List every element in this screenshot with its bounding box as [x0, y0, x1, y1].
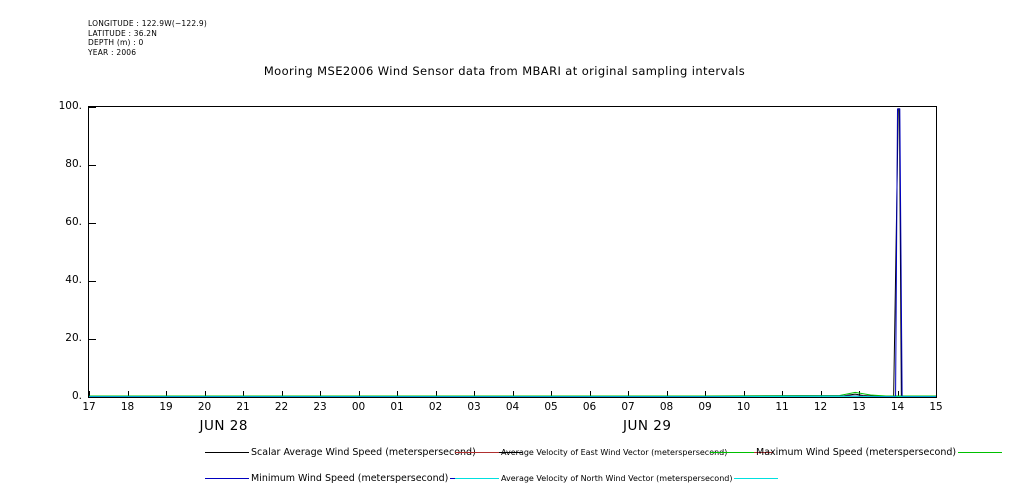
x-tick-label: 23: [305, 401, 335, 413]
y-tick-label: 20.: [36, 333, 82, 343]
station-metadata: LONGITUDE : 122.9W(−122.9)LATITUDE : 36.…: [88, 19, 207, 57]
legend-swatch: [455, 452, 499, 453]
x-tick-label: 00: [344, 401, 374, 413]
x-tick-label: 11: [767, 401, 797, 413]
metadata-line-depth: DEPTH (m) : 0: [88, 38, 143, 47]
x-tick-label: 20: [190, 401, 220, 413]
x-tick-label: 13: [844, 401, 874, 413]
x-tick-label: 08: [652, 401, 682, 413]
legend-item: Average Velocity of North Wind Vector (m…: [455, 474, 778, 483]
x-tick-label: 03: [459, 401, 489, 413]
x-group-label: JUN 29: [587, 418, 707, 434]
legend-label: Average Velocity of North Wind Vector (m…: [499, 474, 734, 483]
y-tick-label: 0.: [36, 391, 82, 401]
x-tick-label: 12: [806, 401, 836, 413]
metadata-line-year: YEAR : 2006: [88, 48, 136, 57]
legend-label: Scalar Average Wind Speed (metersperseco…: [249, 448, 478, 457]
chart-title: Mooring MSE2006 Wind Sensor data from MB…: [0, 64, 1009, 78]
chart-legend: Scalar Average Wind Speed (metersperseco…: [0, 448, 1009, 496]
x-tick-label: 10: [729, 401, 759, 413]
legend-swatch: [734, 478, 778, 479]
legend-swatch: [205, 452, 249, 453]
legend-item: Maximum Wind Speed (meterspersecond): [710, 448, 1002, 457]
y-tick-label: 100.: [36, 101, 82, 111]
x-tick-label: 04: [498, 401, 528, 413]
series-line: [89, 109, 936, 396]
x-tick-label: 18: [113, 401, 143, 413]
legend-label: Maximum Wind Speed (meterspersecond): [754, 448, 958, 457]
series-line: [89, 109, 936, 397]
x-tick-label: 17: [74, 401, 104, 413]
x-tick-label: 06: [575, 401, 605, 413]
legend-swatch: [205, 478, 249, 479]
legend-item: Minimum Wind Speed (meterspersecond): [205, 474, 494, 483]
legend-label: Minimum Wind Speed (meterspersecond): [249, 474, 450, 483]
legend-swatch: [455, 478, 499, 479]
x-tick-label: 22: [267, 401, 297, 413]
y-tick-label: 40.: [36, 275, 82, 285]
chart-page: LONGITUDE : 122.9W(−122.9)LATITUDE : 36.…: [0, 0, 1009, 504]
metadata-line-longitude: LONGITUDE : 122.9W(−122.9): [88, 19, 207, 28]
x-tick-label: 19: [151, 401, 181, 413]
plot-area: [88, 106, 937, 398]
legend-swatch: [958, 452, 1002, 453]
metadata-line-latitude: LATITUDE : 36.2N: [88, 29, 157, 38]
y-tick-label: 80.: [36, 159, 82, 169]
series-lines: [89, 107, 936, 397]
legend-label: Average Velocity of East Wind Vector (me…: [499, 448, 729, 457]
x-tick-label: 21: [228, 401, 258, 413]
x-tick-label: 15: [921, 401, 951, 413]
y-tick-label: 60.: [36, 217, 82, 227]
x-tick-label: 05: [536, 401, 566, 413]
legend-swatch: [710, 452, 754, 453]
x-tick-label: 14: [883, 401, 913, 413]
x-tick-label: 07: [613, 401, 643, 413]
x-tick-label: 01: [382, 401, 412, 413]
x-tick-label: 09: [690, 401, 720, 413]
series-line: [89, 392, 936, 396]
x-tick-label: 02: [421, 401, 451, 413]
x-group-label: JUN 28: [164, 418, 284, 434]
